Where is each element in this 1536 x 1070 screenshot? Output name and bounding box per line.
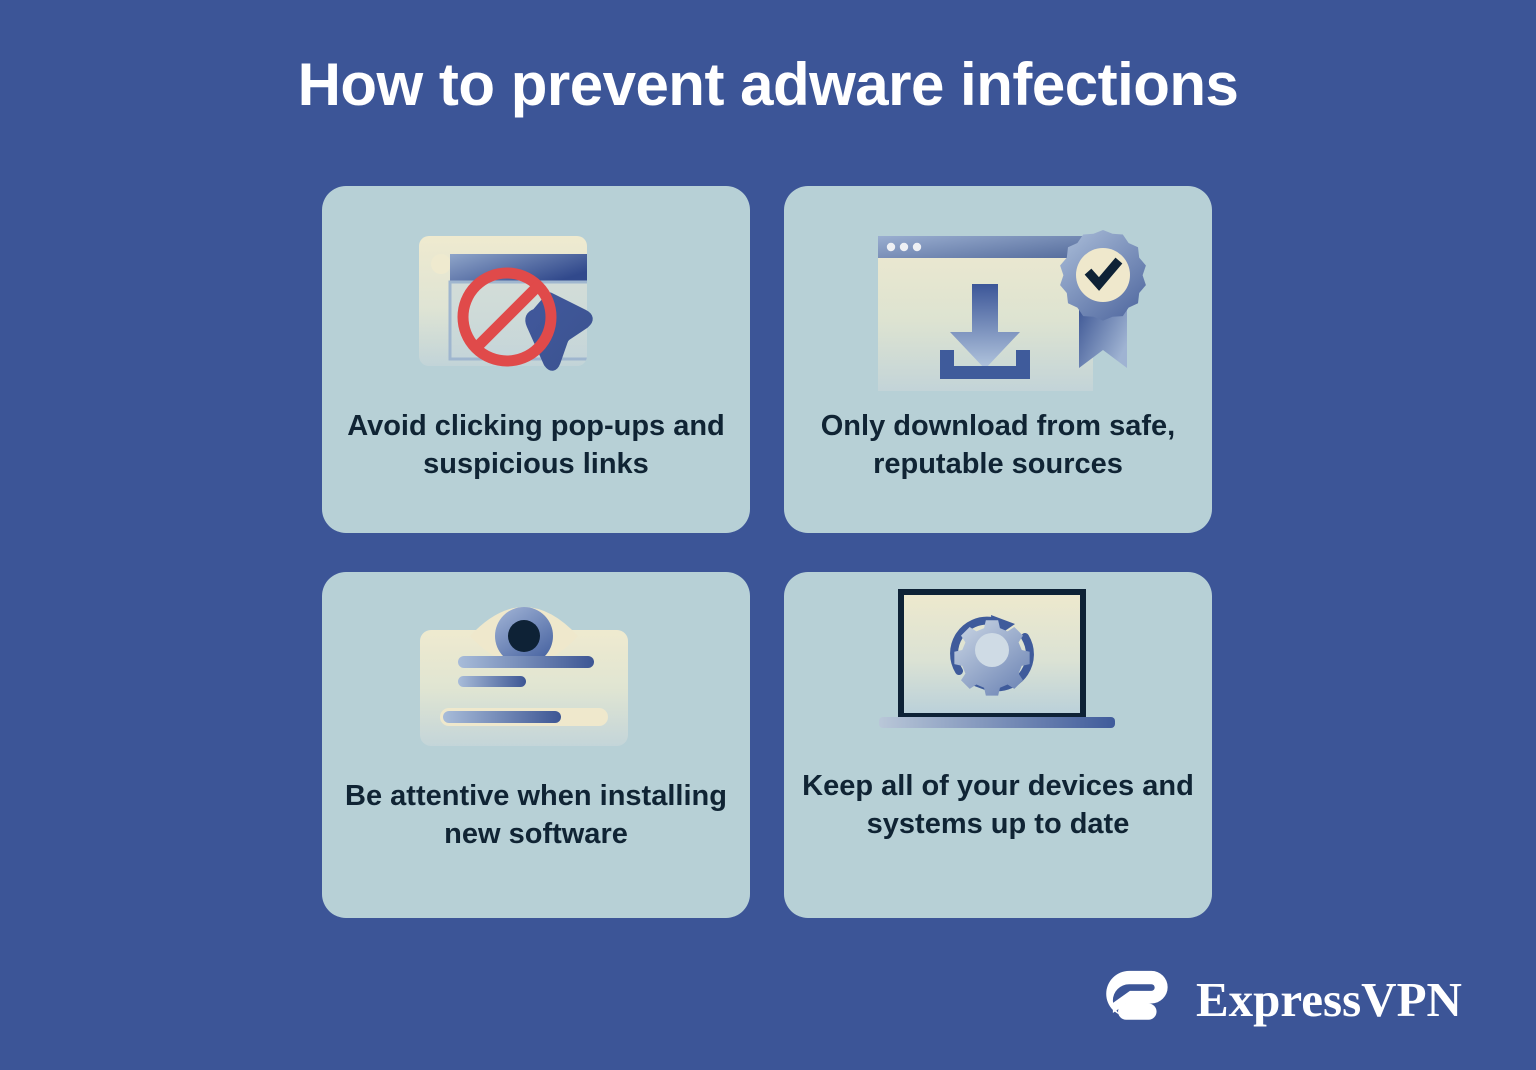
tip-card-attentive-install[interactable]: Be attentive when installing new softwar…	[322, 572, 750, 918]
popup-blocked-cursor-icon	[322, 186, 750, 408]
tips-grid: Avoid clicking pop-ups and suspicious li…	[322, 186, 1212, 918]
tip-card-keep-updated[interactable]: Keep all of your devices and systems up …	[784, 572, 1212, 918]
tip-card-label: Keep all of your devices and systems up …	[784, 768, 1212, 844]
download-verified-badge-icon	[784, 186, 1212, 408]
tip-card-label: Be attentive when installing new softwar…	[322, 778, 750, 854]
tip-card-label: Avoid clicking pop-ups and suspicious li…	[322, 408, 750, 484]
brand-name: ExpressVPN	[1196, 975, 1462, 1024]
infographic-page: How to prevent adware infections	[0, 0, 1536, 1070]
expressvpn-logo[interactable]: ExpressVPN	[1104, 962, 1462, 1036]
eye-install-progress-icon	[322, 572, 750, 778]
laptop-gear-update-icon	[784, 572, 1212, 768]
tip-card-safe-downloads[interactable]: Only download from safe, reputable sourc…	[784, 186, 1212, 533]
page-title: How to prevent adware infections	[0, 52, 1536, 118]
tip-card-avoid-popups[interactable]: Avoid clicking pop-ups and suspicious li…	[322, 186, 750, 533]
expressvpn-e-mark-icon	[1104, 962, 1178, 1036]
tip-card-label: Only download from safe, reputable sourc…	[784, 408, 1212, 484]
